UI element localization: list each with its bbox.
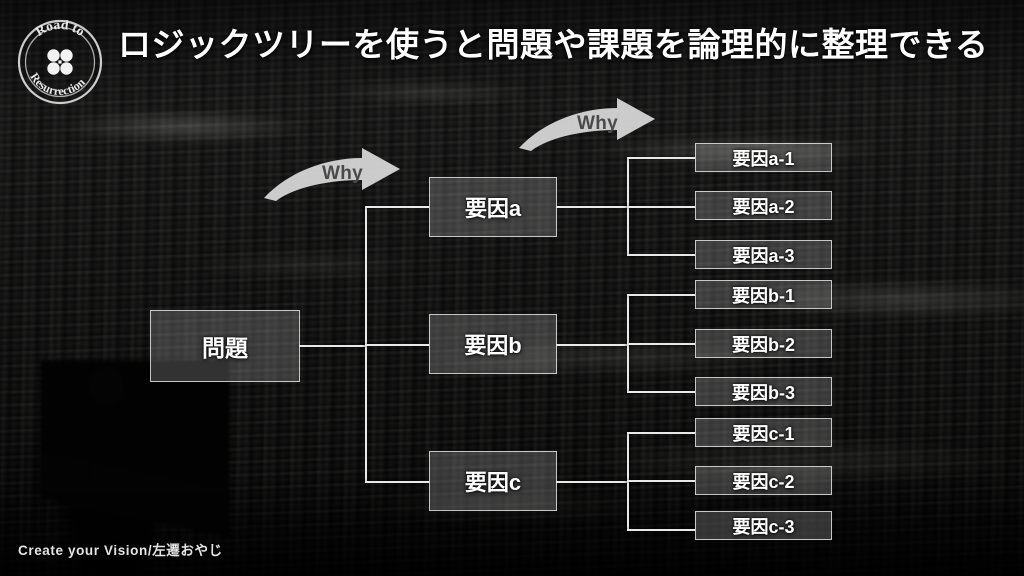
connector-trunk-to-factor-c [365,481,429,483]
node-factor-c-2[interactable]: 要因c-2 [695,466,832,495]
node-factor-b-2[interactable]: 要因b-2 [695,329,832,358]
connector-factor-b-stem [556,344,628,346]
connector-factor-a-to-a3 [627,254,695,256]
node-factor-c-1[interactable]: 要因c-1 [695,418,832,447]
connector-factor-c-to-c1 [627,432,695,434]
node-factor-b-3[interactable]: 要因b-3 [695,377,832,406]
connector-root-to-trunk [299,345,367,347]
slide-canvas: Road to Resurrection ロジックツリーを使うと問題や課題を論理… [0,0,1024,576]
connector-factor-b-to-b2 [627,343,695,345]
why-arrow-level1-label: Why [322,163,363,185]
connector-factor-a-to-a2 [627,206,695,208]
node-factor-c[interactable]: 要因c [429,451,557,511]
node-factor-b-1[interactable]: 要因b-1 [695,280,832,309]
why-arrow-level2-label: Why [577,113,618,135]
connector-trunk-to-factor-a [365,206,429,208]
connector-factor-b-to-b1 [627,294,695,296]
connector-factor-a-stem [556,206,628,208]
logic-tree-diagram: 問題 要因a 要因b 要因c 要因a-1 要因a-2 要因a-3 要因b-1 要… [0,0,1024,576]
node-factor-a-3[interactable]: 要因a-3 [695,240,832,269]
connector-factor-b-to-b3 [627,391,695,393]
node-factor-a[interactable]: 要因a [429,177,557,237]
connector-trunk-to-factor-b [365,344,429,346]
connector-factor-c-stem [556,481,628,483]
footer-credit: Create your Vision/左遷おやじ [18,539,223,559]
connector-factor-c-to-c3 [627,529,695,531]
connector-factor-c-to-c2 [627,480,695,482]
node-root-problem[interactable]: 問題 [150,310,300,382]
node-factor-a-2[interactable]: 要因a-2 [695,191,832,220]
connector-factor-a-to-a1 [627,157,695,159]
node-factor-b[interactable]: 要因b [429,314,557,374]
node-factor-c-3[interactable]: 要因c-3 [695,511,832,540]
node-factor-a-1[interactable]: 要因a-1 [695,143,832,172]
